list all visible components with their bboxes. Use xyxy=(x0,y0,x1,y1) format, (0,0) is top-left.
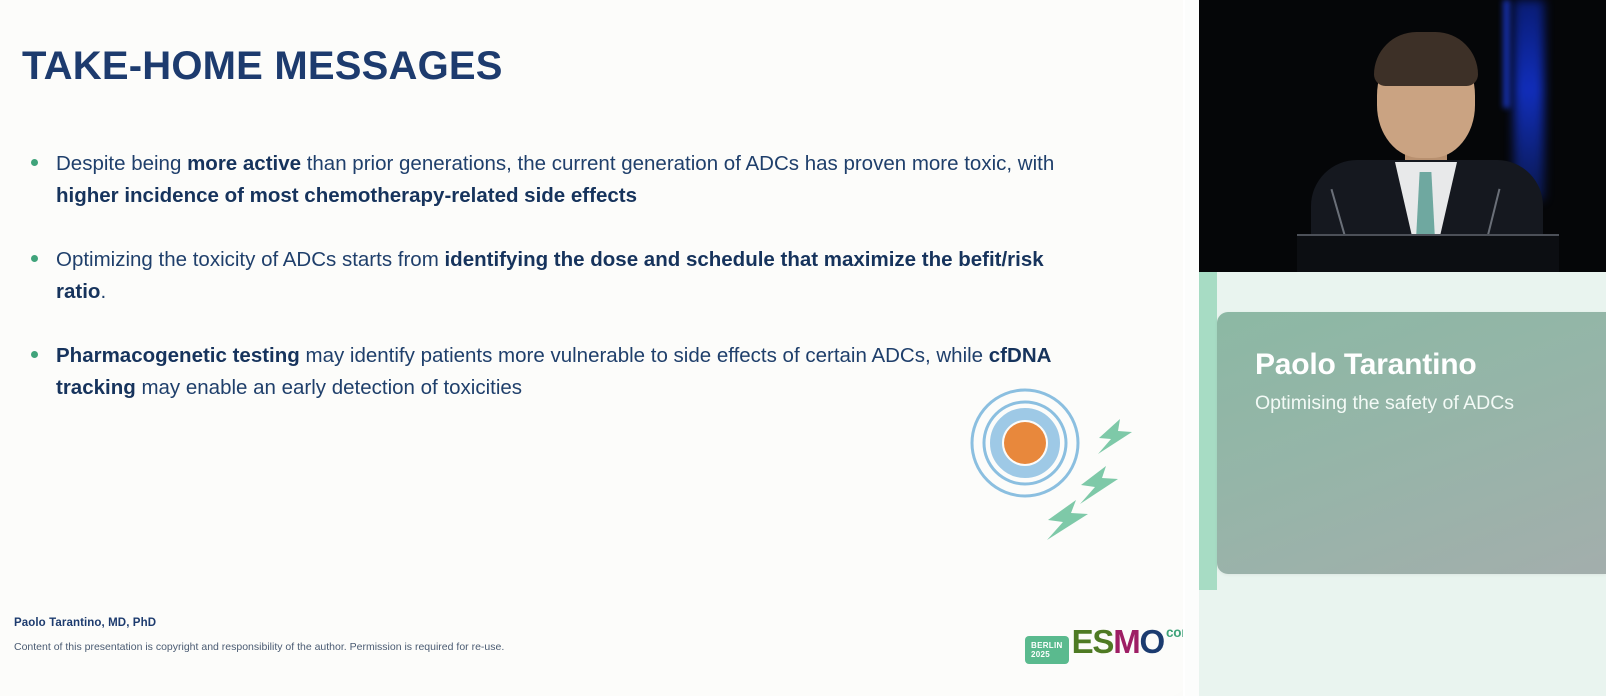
esmo-city: BERLIN xyxy=(1031,641,1063,650)
speaker-talk-title: Optimising the safety of ADCs xyxy=(1255,392,1514,415)
footer-copyright: Content of this presentation is copyrigh… xyxy=(14,641,504,653)
speaker-video-feed[interactable] xyxy=(1199,0,1606,272)
esmo-year: 2025 xyxy=(1031,650,1050,659)
speaker-name: Paolo Tarantino xyxy=(1255,348,1476,382)
radiating-target-icon xyxy=(962,388,1172,558)
esmo-berlin-badge: BERLIN 2025 xyxy=(1025,636,1069,664)
esmo-wordmark: ES M O congress xyxy=(1072,627,1183,664)
bullet-text: Despite being more active than prior gen… xyxy=(56,152,1054,207)
esmo-congress-label: congress xyxy=(1166,618,1183,648)
esmo-o: O xyxy=(1140,627,1164,657)
speaker-info-wrap: Paolo Tarantino Optimising the safety of… xyxy=(1185,282,1606,574)
stage-light-blue-thin xyxy=(1503,0,1510,108)
esmo-es: ES xyxy=(1072,627,1114,657)
bullet-dot-icon xyxy=(31,255,38,262)
presentation-viewer: TAKE-HOME MESSAGES Despite being more ac… xyxy=(0,0,1606,696)
slide-content: TAKE-HOME MESSAGES Despite being more ac… xyxy=(0,0,1183,696)
slide-region[interactable]: TAKE-HOME MESSAGES Despite being more ac… xyxy=(0,0,1183,696)
bullet-text: Pharmacogenetic testing may identify pat… xyxy=(56,344,1051,399)
esmo-m: M xyxy=(1113,627,1139,657)
podium xyxy=(1297,234,1559,272)
list-item: Optimizing the toxicity of ADCs starts f… xyxy=(26,244,1071,308)
speaker-hair xyxy=(1374,32,1478,86)
list-item: Pharmacogenetic testing may identify pat… xyxy=(26,340,1071,404)
bullet-text: Optimizing the toxicity of ADCs starts f… xyxy=(56,248,1044,303)
footer-author: Paolo Tarantino, MD, PhD xyxy=(14,617,156,629)
list-item: Despite being more active than prior gen… xyxy=(26,148,1071,212)
esmo-congress-logo: BERLIN 2025 ES M O congress xyxy=(1025,630,1183,664)
speaker-info-card[interactable]: Paolo Tarantino Optimising the safety of… xyxy=(1217,312,1606,574)
bullet-dot-icon xyxy=(31,159,38,166)
bullet-list: Despite being more active than prior gen… xyxy=(26,148,1071,436)
slide-title: TAKE-HOME MESSAGES xyxy=(22,44,503,89)
bullet-dot-icon xyxy=(31,351,38,358)
